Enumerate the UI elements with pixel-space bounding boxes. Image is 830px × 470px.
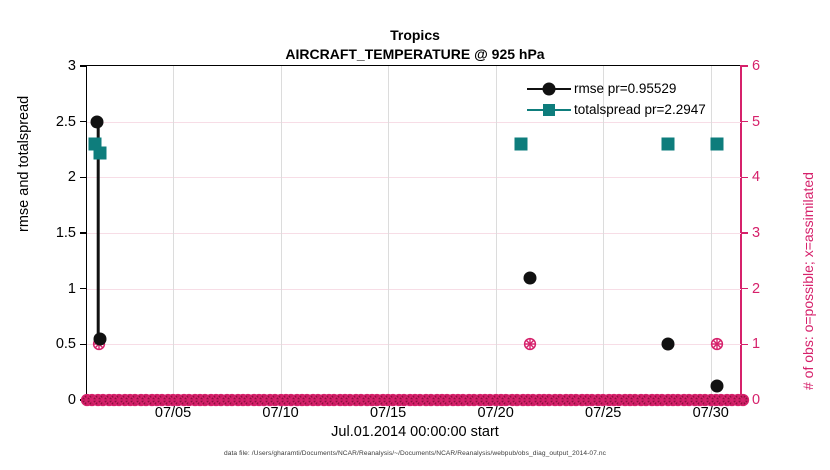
y-axis-right-tick (741, 177, 748, 178)
y-axis-right-tick-label: 4 (752, 169, 760, 185)
y-axis-left-tick (80, 177, 87, 178)
y-axis-left-tick (80, 65, 87, 66)
y-axis-left-tick-label: 0.5 (56, 336, 76, 352)
y-axis-right-tick (741, 65, 748, 66)
x-axis-tick-label: 07/15 (370, 405, 406, 421)
totalspread-data-point (93, 146, 106, 159)
y-axis-right-tick-label: 2 (752, 281, 760, 297)
legend: rmse pr=0.95529totalspread pr=2.2947 (527, 78, 727, 120)
legend-item[interactable]: totalspread pr=2.2947 (527, 99, 727, 120)
y-axis-right-tick (741, 121, 748, 122)
chart-title-line-2: AIRCRAFT_TEMPERATURE @ 925 hPa (0, 45, 830, 64)
data-file-footer: data file: /Users/gharamti/Documents/NCA… (0, 450, 830, 457)
rmse-data-point (90, 115, 103, 128)
y-axis-left-tick-label: 2 (68, 169, 76, 185)
x-axis-tick-label: 07/30 (693, 405, 729, 421)
y-axis-right-tick (741, 344, 748, 345)
horizontal-gridline (87, 289, 741, 290)
x-axis-tick-label: 07/20 (477, 405, 513, 421)
y-axis-left-title: rmse and totalspread (16, 96, 32, 232)
rmse-data-point (711, 379, 724, 392)
y-axis-left-tick-label: 1.5 (56, 225, 76, 241)
y-axis-left-tick-label: 3 (68, 58, 76, 74)
y-axis-right-tick-label: 1 (752, 336, 760, 352)
legend-item[interactable]: rmse pr=0.95529 (527, 78, 727, 99)
y-axis-right-tick (741, 232, 748, 233)
obs-assimilated-marker (737, 394, 750, 407)
horizontal-gridline (87, 344, 741, 345)
vertical-gridline (496, 66, 497, 398)
legend-square-icon (527, 103, 571, 117)
y-axis-left-tick-label: 0 (68, 392, 76, 408)
chart-title: Tropics AIRCRAFT_TEMPERATURE @ 925 hPa (0, 26, 830, 64)
totalspread-data-point (515, 137, 528, 150)
legend-item-label: rmse pr=0.95529 (574, 81, 676, 96)
y-axis-right-tick-label: 0 (752, 392, 760, 408)
y-axis-left-tick (80, 232, 87, 233)
y-axis-right-tick-label: 5 (752, 114, 760, 130)
y-axis-right-tick-label: 3 (752, 225, 760, 241)
horizontal-gridline (87, 177, 741, 178)
y-axis-left-tick (80, 288, 87, 289)
rmse-data-point (93, 332, 106, 345)
legend-circle-icon (527, 82, 571, 96)
vertical-gridline (173, 66, 174, 398)
x-axis-tick-label: 07/05 (155, 405, 191, 421)
x-axis-title: Jul.01.2014 00:00:00 start (0, 424, 830, 440)
y-axis-left-tick-label: 1 (68, 281, 76, 297)
totalspread-data-point (661, 137, 674, 150)
obs-possible-marker (524, 338, 537, 351)
totalspread-data-point (711, 137, 724, 150)
chart-root: Tropics AIRCRAFT_TEMPERATURE @ 925 hPa r… (0, 0, 830, 470)
y-axis-left-tick (80, 121, 87, 122)
rmse-data-point (661, 338, 674, 351)
x-axis-tick-label: 07/10 (262, 405, 298, 421)
horizontal-gridline (87, 122, 741, 123)
y-axis-right-tick (741, 288, 748, 289)
horizontal-gridline (87, 233, 741, 234)
y-axis-right-title: # of obs: o=possible; x=assimilated (800, 172, 816, 390)
legend-item-label: totalspread pr=2.2947 (574, 102, 706, 117)
vertical-gridline (281, 66, 282, 398)
obs-possible-marker (711, 338, 724, 351)
y-axis-right-tick-label: 6 (752, 58, 760, 74)
y-axis-left-tick-label: 2.5 (56, 114, 76, 130)
vertical-gridline (388, 66, 389, 398)
y-axis-left-tick (80, 344, 87, 345)
chart-title-line-1: Tropics (0, 26, 830, 45)
rmse-data-point (524, 271, 537, 284)
x-axis-tick-label: 07/25 (585, 405, 621, 421)
